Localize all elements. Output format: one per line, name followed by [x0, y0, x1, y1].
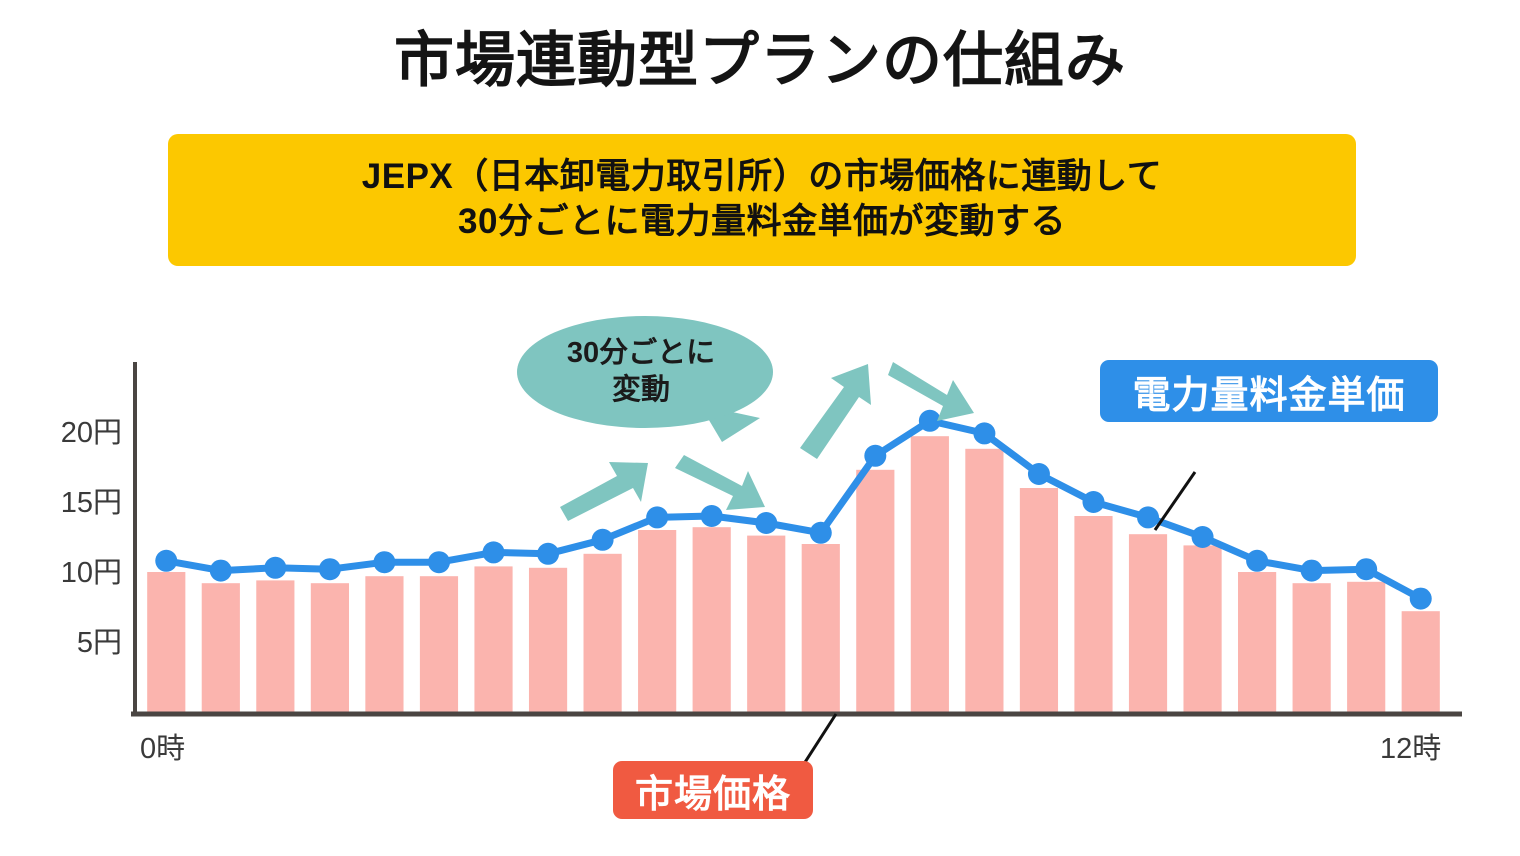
- line-marker: [373, 551, 395, 573]
- line-marker: [701, 505, 723, 527]
- line-marker: [1355, 558, 1377, 580]
- bar: [802, 544, 840, 712]
- summary-banner: JEPX（日本卸電力取引所）の市場価格に連動して 30分ごとに電力量料金単価が変…: [168, 134, 1356, 266]
- line-marker: [1301, 560, 1323, 582]
- x-tick-start: 0時: [140, 732, 185, 765]
- bar: [365, 576, 403, 712]
- banner-line-1: JEPX（日本卸電力取引所）の市場価格に連動して: [362, 155, 1162, 200]
- bar: [1402, 611, 1440, 712]
- bar: [856, 470, 894, 712]
- line-marker: [864, 445, 886, 467]
- page-title: 市場連動型プランの仕組み: [0, 28, 1520, 94]
- arrow-up-2: [800, 364, 871, 459]
- line-marker: [1082, 491, 1104, 513]
- bar: [474, 566, 512, 712]
- line-marker: [1137, 506, 1159, 528]
- y-tick-label: 5円: [77, 627, 122, 659]
- line-marker: [646, 506, 668, 528]
- infographic-root: 市場連動型プランの仕組み JEPX（日本卸電力取引所）の市場価格に連動して 30…: [0, 0, 1520, 856]
- bar: [693, 527, 731, 712]
- bar: [1129, 534, 1167, 712]
- bar: [202, 583, 240, 712]
- bar: [311, 583, 349, 712]
- bar: [256, 580, 294, 712]
- unit-price-badge: 電力量料金単価: [1100, 360, 1438, 422]
- line-marker: [592, 529, 614, 551]
- banner-line-2: 30分ごとに電力量料金単価が変動する: [458, 200, 1066, 245]
- line-marker: [1246, 550, 1268, 572]
- bar: [1238, 572, 1276, 712]
- y-tick-label: 20円: [61, 417, 122, 449]
- bar: [965, 449, 1003, 712]
- line-marker: [1410, 588, 1432, 610]
- line-marker: [428, 551, 450, 573]
- line-marker: [1192, 526, 1214, 548]
- bar: [147, 572, 185, 712]
- line-marker: [319, 558, 341, 580]
- bar: [1183, 545, 1221, 712]
- line-marker: [264, 557, 286, 579]
- bar: [1293, 583, 1331, 712]
- y-tick-label: 15円: [61, 487, 122, 519]
- y-axis-ticks: 5円10円15円20円: [61, 417, 122, 659]
- speech-bubble-body: [517, 316, 773, 428]
- line-marker: [537, 543, 559, 565]
- bar: [911, 436, 949, 712]
- speech-bubble: [517, 316, 773, 442]
- x-tick-end: 12時: [1380, 732, 1441, 765]
- line-marker: [973, 422, 995, 444]
- arrow-up-1: [560, 462, 648, 521]
- line-marker: [810, 522, 832, 544]
- line-marker: [755, 512, 777, 534]
- line-path: [166, 421, 1420, 599]
- line-marker: [210, 560, 232, 582]
- bar: [1347, 582, 1385, 712]
- bar: [584, 554, 622, 712]
- bar: [747, 536, 785, 712]
- bar-series: [147, 436, 1440, 712]
- bar: [529, 568, 567, 712]
- y-tick-label: 10円: [61, 557, 122, 589]
- bar: [420, 576, 458, 712]
- leader-line-blue: [1155, 472, 1195, 530]
- arrow-down-1: [675, 455, 765, 510]
- bar: [1074, 516, 1112, 712]
- market-price-badge: 市場価格: [613, 761, 813, 819]
- line-marker: [483, 541, 505, 563]
- bar: [1020, 488, 1058, 712]
- line-marker: [155, 550, 177, 572]
- line-marker: [1028, 463, 1050, 485]
- bar: [638, 530, 676, 712]
